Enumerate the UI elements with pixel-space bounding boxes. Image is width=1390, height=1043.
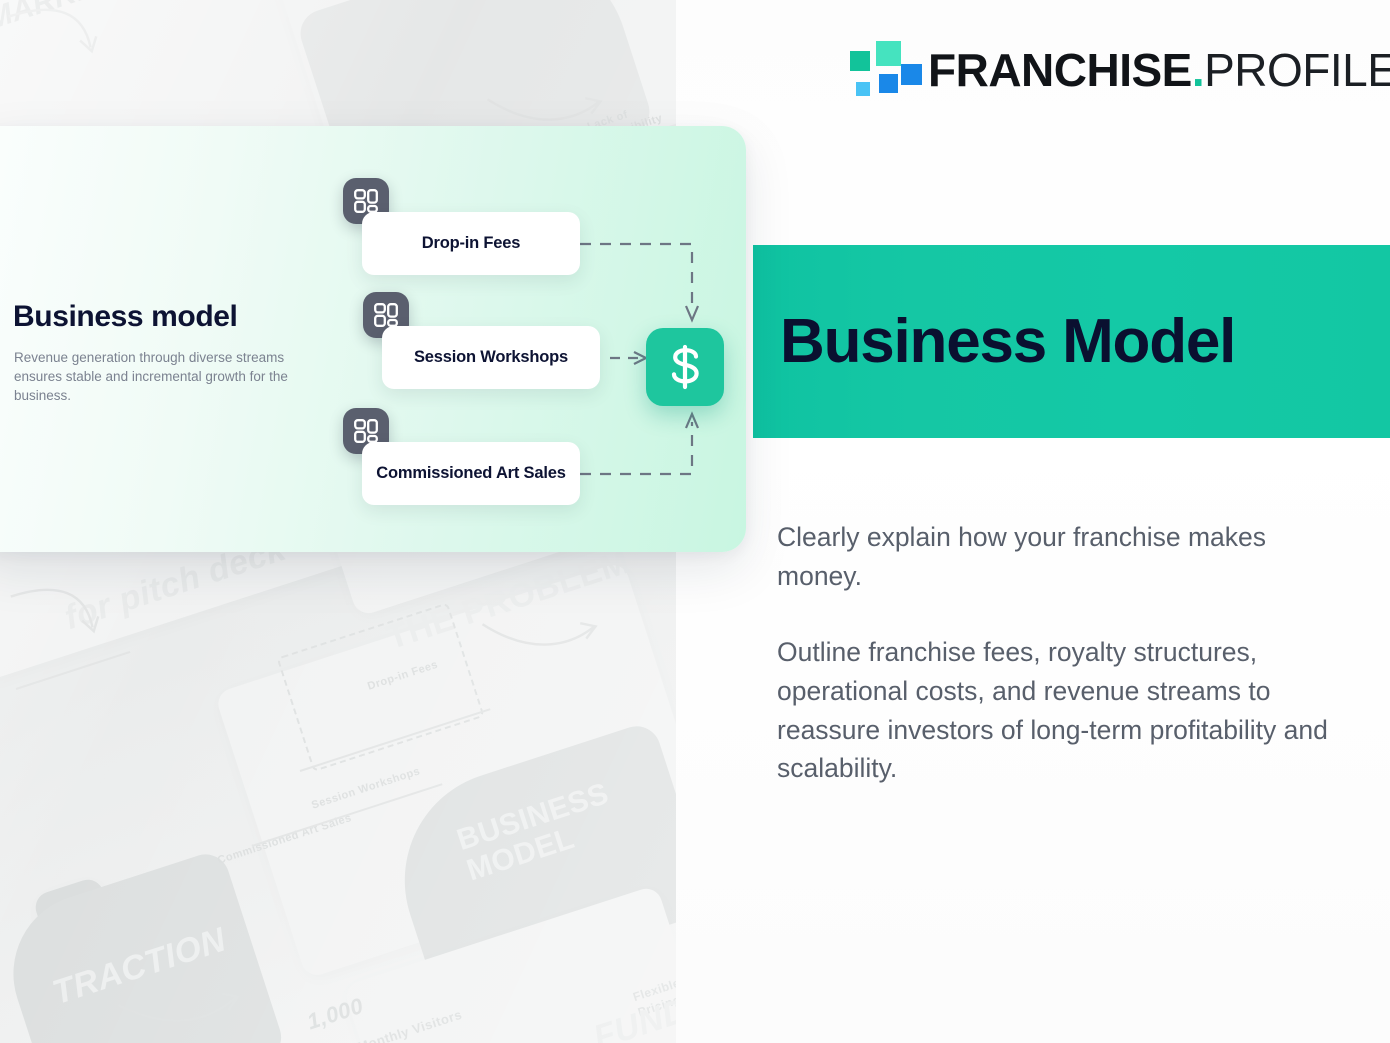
revenue-node-commissioned-art-sales[interactable]: Commissioned Art Sales — [362, 442, 580, 505]
node-label: Drop-in Fees — [422, 233, 520, 253]
paragraph-1: Clearly explain how your franchise makes… — [777, 518, 1352, 595]
section-banner: Business Model — [753, 245, 1390, 438]
logo-text-profiles: PROFILES — [1204, 44, 1390, 96]
logo-square-sky — [856, 82, 870, 96]
node-label: Session Workshops — [414, 347, 568, 367]
revenue-node-session-workshops[interactable]: Session Workshops — [382, 326, 600, 389]
logo-wordmark: FRANCHISE.PROFILES — [928, 47, 1390, 93]
slide-description: Revenue generation through diverse strea… — [14, 348, 314, 405]
logo-square-blue — [901, 64, 922, 85]
logo-text-franchise: FRANCHISE — [928, 44, 1192, 96]
dollar-sign-icon[interactable] — [646, 328, 724, 406]
slide-title: Business model — [13, 300, 237, 334]
paragraph-2: Outline franchise fees, royalty structur… — [777, 633, 1352, 788]
logo-text-dot: . — [1192, 44, 1204, 96]
logo-square-green — [850, 51, 870, 71]
logo-square-mint — [876, 41, 901, 66]
body-copy: Clearly explain how your franchise makes… — [777, 518, 1352, 788]
logo-square-blue-small — [879, 74, 898, 93]
node-label: Commissioned Art Sales — [376, 463, 565, 483]
logo-mark-icon — [850, 40, 908, 100]
page-title: Business Model — [780, 311, 1235, 373]
slide-preview-card[interactable]: Business model Revenue generation throug… — [0, 126, 746, 552]
brand-logo[interactable]: FRANCHISE.PROFILES — [850, 40, 1390, 100]
revenue-node-drop-in-fees[interactable]: Drop-in Fees — [362, 212, 580, 275]
